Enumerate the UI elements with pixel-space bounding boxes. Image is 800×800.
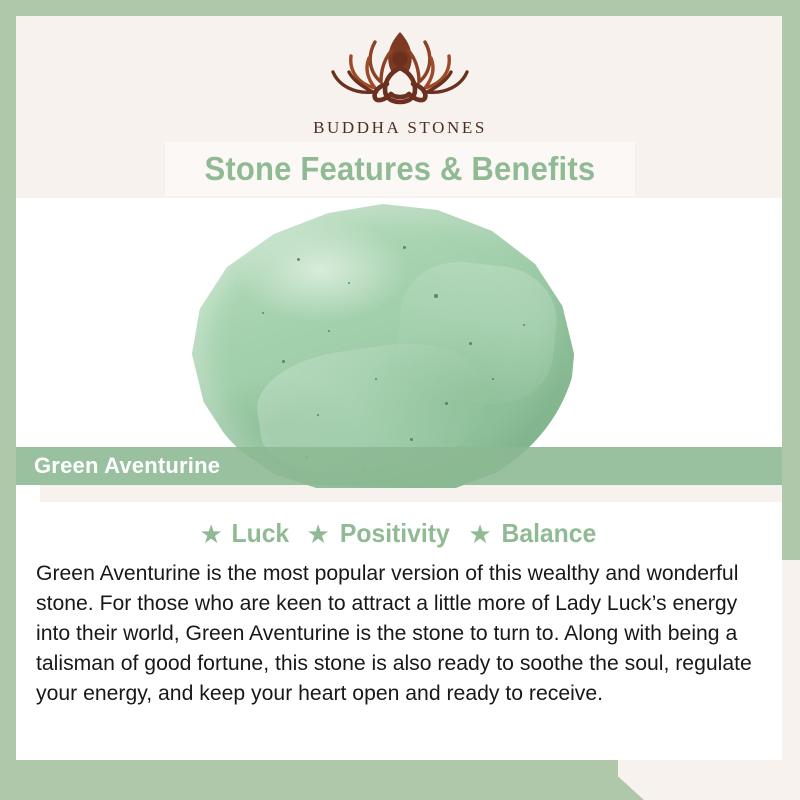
star-icon: ★ (307, 521, 330, 547)
benefit-item-positivity: ★ Positivity (307, 518, 453, 549)
benefit-label: Balance (501, 518, 596, 549)
page-title: Stone Features & Benefits (205, 150, 596, 188)
stone-name-label: Green Aventurine (34, 453, 220, 479)
stone-name-bar: Green Aventurine (16, 447, 782, 485)
star-icon: ★ (200, 521, 223, 547)
frame-bottom-bar (0, 760, 618, 800)
benefit-label: Luck (231, 518, 289, 549)
frame-bottom-taper (600, 760, 644, 800)
poster-canvas: BUDDHA STONES Stone Features & Benefits (0, 0, 800, 800)
brand-name: BUDDHA STONES (0, 118, 800, 138)
brand-logo: BUDDHA STONES (0, 22, 800, 138)
frame-top-bar (0, 0, 800, 16)
star-icon: ★ (468, 521, 491, 547)
green-aventurine-stone (188, 204, 578, 488)
benefit-item-luck: ★ Luck (200, 518, 291, 549)
description-paragraph: Green Aventurine is the most popular ver… (36, 558, 765, 708)
stone-photo (16, 198, 782, 488)
benefit-item-balance: ★ Balance (468, 518, 598, 549)
title-band: Stone Features & Benefits (165, 142, 635, 196)
benefit-label: Positivity (340, 518, 450, 549)
lotus-meditation-icon (315, 22, 485, 114)
benefits-row: ★ Luck ★ Positivity ★ Balance (16, 518, 782, 549)
